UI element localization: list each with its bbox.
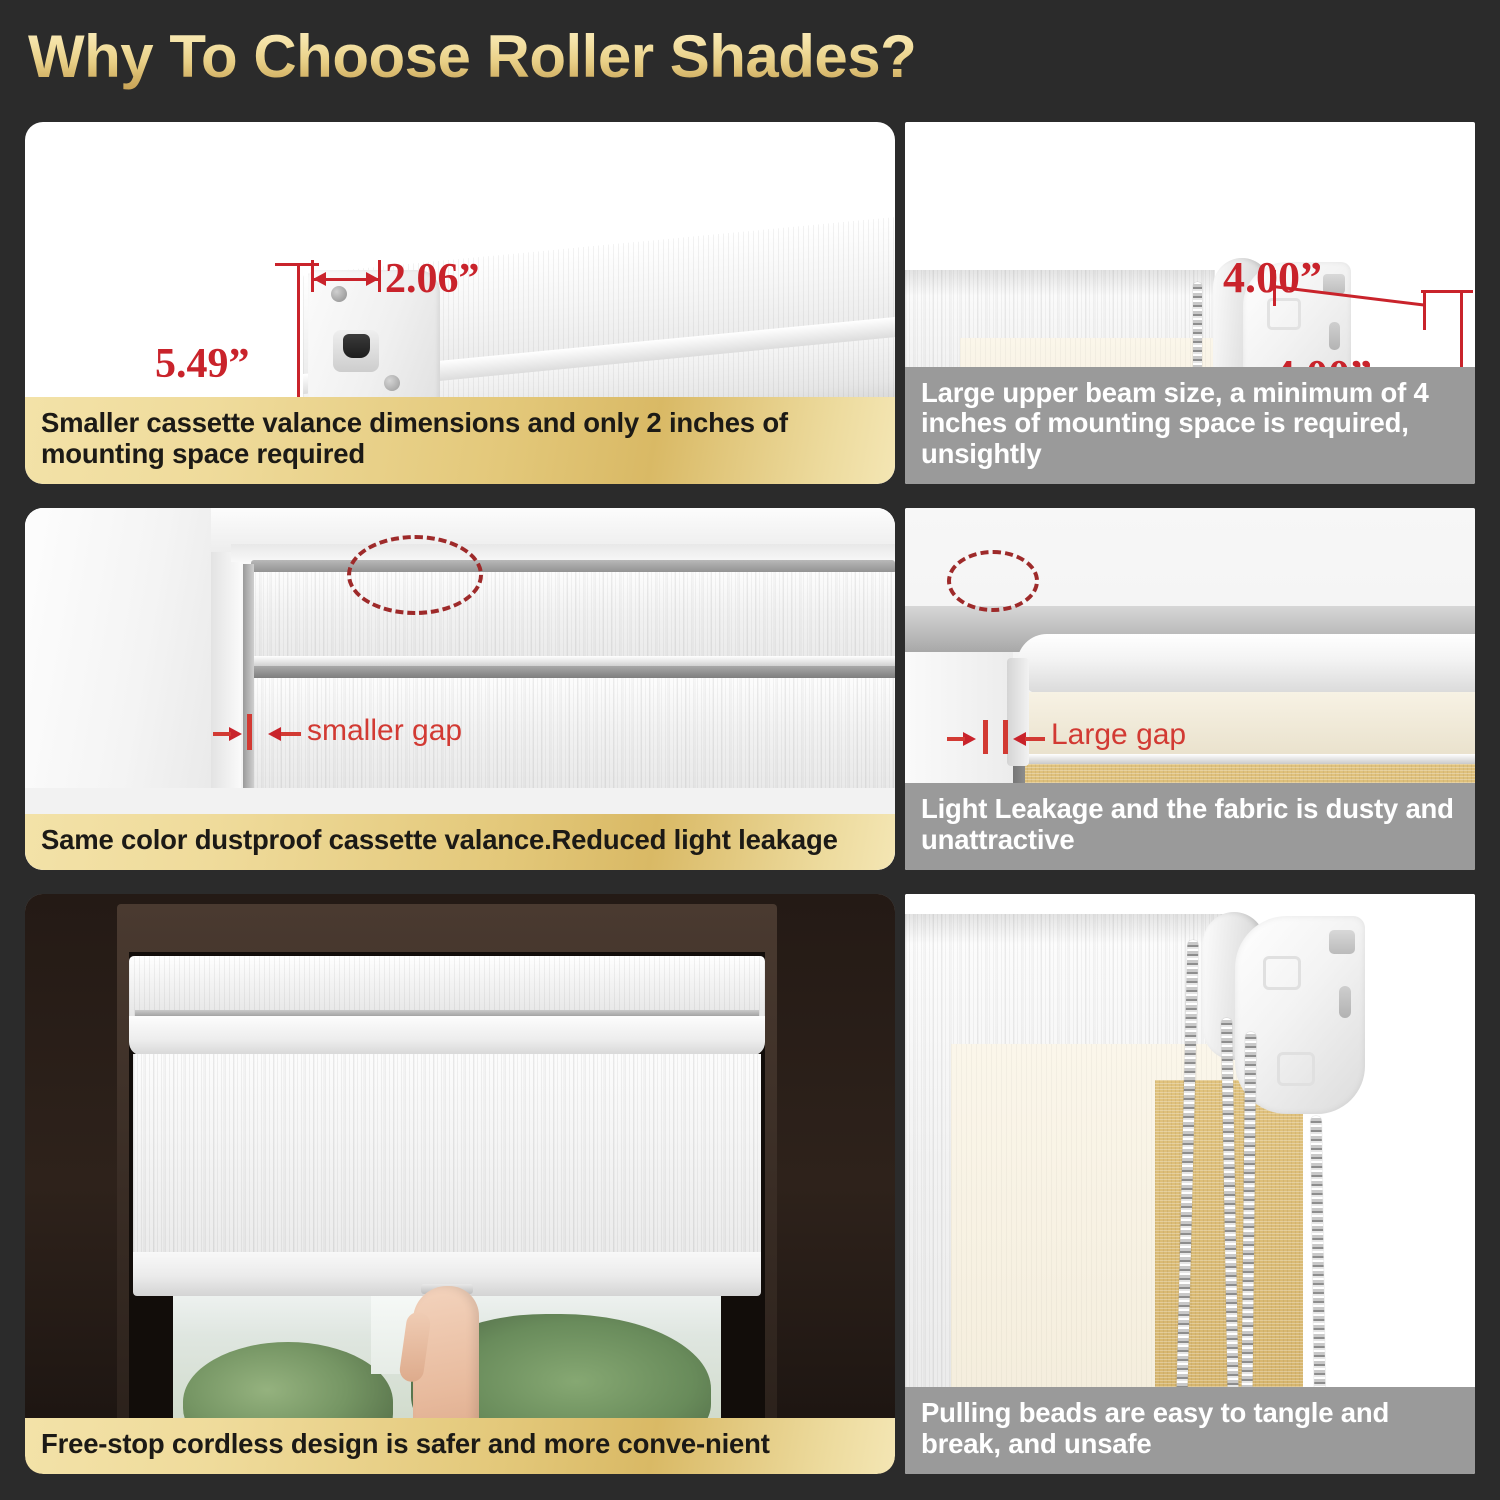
- cordless-shade-fabric: [133, 1054, 761, 1254]
- cordless-valance: [129, 956, 765, 1016]
- dim-arrow-left-206: [313, 272, 326, 286]
- cordless-roller-tube: [129, 1016, 765, 1056]
- gap-label-smaller: smaller gap: [307, 714, 462, 748]
- beads-bracket-icon-lower: [1277, 1052, 1315, 1086]
- window-casing-left: [25, 508, 237, 788]
- beam-bracket-notch-side: [1329, 322, 1340, 350]
- dim-arrow-right-206: [366, 272, 379, 286]
- leak-valance-tube: [1017, 634, 1475, 696]
- leak-gap-bar-a: [983, 720, 988, 754]
- leak-gap-arrow-left-tail: [947, 737, 965, 741]
- side-rail: [243, 564, 254, 788]
- dim-label-width: 2.06”: [385, 255, 480, 303]
- panel-dustproof-cassette: smaller gap Same color dustproof cassett…: [25, 508, 895, 870]
- end-cap-bracket-hole: [343, 334, 370, 358]
- gap-arrow-right-tail: [281, 732, 301, 736]
- end-cap-screw-top: [331, 286, 347, 302]
- gap-arrow-left-tail: [213, 732, 231, 736]
- gap-arrow-right: [268, 727, 281, 741]
- photo-cordless-window: [25, 894, 895, 1474]
- caption-dustproof-cassette: Same color dustproof cassette valance.Re…: [25, 814, 895, 870]
- panel-free-stop-cordless: Free-stop cordless design is safer and m…: [25, 894, 895, 1474]
- dim-label-beam-width: 4.00”: [1223, 252, 1322, 303]
- panel-pulling-beads: Pulling beads are easy to tangle and bre…: [905, 894, 1475, 1474]
- caption-light-leakage: Light Leakage and the fabric is dusty an…: [905, 783, 1475, 870]
- dim-tick-right-400h: [1423, 290, 1426, 330]
- gap-label-large: Large gap: [1051, 718, 1186, 752]
- caption-large-upper-beam: Large upper beam size, a minimum of 4 in…: [905, 367, 1475, 484]
- beam-white-fabric-shadow: [905, 270, 1215, 296]
- highlight-ellipse-smaller-gap: [347, 535, 483, 615]
- leak-gap-arrow-right-tail: [1025, 737, 1045, 741]
- caption-free-stop-cordless: Free-stop cordless design is safer and m…: [25, 1418, 895, 1474]
- panel-smaller-cassette: 2.06” 5.49” Smaller cassette valance dim…: [25, 122, 895, 484]
- end-cap-screw-mid: [384, 375, 400, 391]
- caption-smaller-cassette: Smaller cassette valance dimensions and …: [25, 397, 895, 484]
- beads-bracket-notch-top: [1329, 930, 1355, 954]
- beads-bracket-notch-side: [1339, 986, 1351, 1018]
- gap-marker-bar: [247, 714, 252, 750]
- shade-roller-bar: [253, 666, 895, 678]
- panel-large-upper-beam: 4.00” 4.00” Large upper beam size, a min…: [905, 122, 1475, 484]
- cassette-valance-face: [251, 572, 895, 664]
- dim-tick-top-400v: [1421, 290, 1473, 293]
- highlight-ellipse-large-gap: [947, 550, 1039, 612]
- panel-light-leakage: Large gap Light Leakage and the fabric i…: [905, 508, 1475, 870]
- dim-label-height: 5.49”: [155, 340, 250, 388]
- leak-gap-bar-b: [1003, 720, 1008, 754]
- caption-pulling-beads: Pulling beads are easy to tangle and bre…: [905, 1387, 1475, 1474]
- beads-bracket-icon-upper: [1263, 956, 1301, 990]
- leak-bracket: [1007, 658, 1029, 766]
- page-title: Why To Choose Roller Shades?: [28, 22, 916, 91]
- beads-white-fabric-top-shadow: [905, 914, 1235, 944]
